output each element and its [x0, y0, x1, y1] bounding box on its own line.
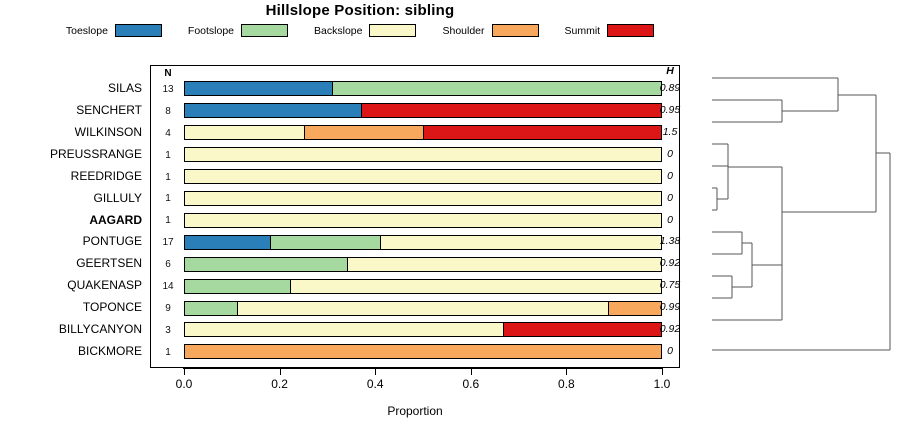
category-label-gilluly: GILLULY [94, 191, 142, 205]
bar-segment-backslope [290, 280, 661, 293]
stacked-bar [184, 125, 662, 140]
bar-segment-footslope [332, 82, 661, 95]
legend-item-footslope: Footslope [188, 24, 288, 37]
dendrogram-svg [690, 62, 900, 372]
stacked-bar [184, 81, 662, 96]
x-tick-label: 0.4 [367, 377, 384, 391]
bar-segment-backslope [185, 214, 661, 227]
stacked-bar [184, 103, 662, 118]
dendrogram [690, 62, 900, 372]
bar-segment-backslope [185, 192, 661, 205]
n-value: 1 [153, 347, 183, 358]
n-value: 4 [153, 128, 183, 139]
x-tick-label: 1.0 [654, 377, 671, 391]
bar-row: 4 [151, 122, 679, 144]
chart-title: Hillslope Position: sibling [0, 2, 720, 19]
h-value: 0.75 [648, 279, 692, 291]
h-value: 0.92 [648, 323, 692, 335]
bar-segment-toeslope [185, 82, 332, 95]
h-value: 0 [648, 214, 692, 226]
x-tick-label: 0.2 [271, 377, 288, 391]
n-value: 9 [153, 303, 183, 314]
n-value: 1 [153, 150, 183, 161]
x-tick [280, 368, 281, 375]
plot-panel: N 1384111117614931 [150, 65, 680, 368]
bar-row: 1 [151, 166, 679, 188]
bar-row: 3 [151, 319, 679, 341]
bar-row: 8 [151, 100, 679, 122]
x-axis: 0.00.20.40.60.81.0 [150, 368, 680, 402]
x-tick [184, 368, 185, 375]
legend: ToeslopeFootslopeBackslopeShoulderSummit [0, 24, 720, 37]
x-tick-label: 0.0 [176, 377, 193, 391]
category-label-pontuge: PONTUGE [83, 234, 142, 248]
legend-item-backslope: Backslope [314, 24, 416, 37]
bar-segment-backslope [185, 170, 661, 183]
legend-label: Backslope [314, 25, 362, 37]
bar-row: 14 [151, 275, 679, 297]
bar-segment-toeslope [185, 104, 361, 117]
legend-swatch [241, 24, 288, 37]
legend-swatch [607, 24, 654, 37]
category-label-reedridge: REEDRIDGE [71, 169, 142, 183]
bar-segment-shoulder [185, 345, 661, 358]
stacked-bar [184, 235, 662, 250]
h-value: 0.89 [648, 82, 692, 94]
stacked-bar [184, 279, 662, 294]
bar-row: 1 [151, 144, 679, 166]
legend-item-shoulder: Shoulder [442, 24, 538, 37]
bar-segment-shoulder [304, 126, 424, 139]
bar-segment-backslope [185, 323, 503, 336]
bar-segment-footslope [185, 280, 290, 293]
legend-item-toeslope: Toeslope [66, 24, 162, 37]
h-value: 0 [648, 148, 692, 160]
x-axis-title: Proportion [150, 404, 680, 418]
n-value: 14 [153, 281, 183, 292]
bar-segment-backslope [185, 126, 304, 139]
h-value: 0 [648, 170, 692, 182]
stacked-bar [184, 257, 662, 272]
legend-item-summit: Summit [565, 24, 655, 37]
category-label-wilkinson: WILKINSON [75, 125, 142, 139]
bar-segment-backslope [380, 236, 661, 249]
bar-segment-toeslope [185, 236, 270, 249]
category-axis-labels: SILASSENCHERTWILKINSONPREUSSRANGEREEDRID… [0, 65, 146, 368]
legend-label: Shoulder [442, 25, 484, 37]
n-value: 13 [153, 84, 183, 95]
stacked-bar [184, 169, 662, 184]
h-value: 0 [648, 192, 692, 204]
x-axis-line [183, 368, 663, 369]
bar-row: 6 [151, 253, 679, 275]
h-value: 0.95 [648, 104, 692, 116]
n-value: 1 [153, 215, 183, 226]
x-tick [662, 368, 663, 375]
x-tick [566, 368, 567, 375]
legend-swatch [115, 24, 162, 37]
n-value: 17 [153, 237, 183, 248]
bar-segment-backslope [237, 302, 608, 315]
n-value: 8 [153, 106, 183, 117]
h-value: 1.5 [648, 126, 692, 138]
bar-segment-footslope [270, 236, 380, 249]
bar-row: 1 [151, 209, 679, 231]
bar-segment-footslope [185, 258, 347, 271]
legend-label: Toeslope [66, 25, 108, 37]
category-label-preussrange: PREUSSRANGE [50, 147, 142, 161]
category-label-silas: SILAS [108, 81, 142, 95]
bar-segment-backslope [347, 258, 662, 271]
stacked-bar [184, 191, 662, 206]
x-tick-label: 0.8 [558, 377, 575, 391]
legend-label: Summit [565, 25, 601, 37]
bar-segment-backslope [185, 148, 661, 161]
category-label-toponce: TOPONCE [83, 300, 142, 314]
n-value: 1 [153, 172, 183, 183]
bar-segment-summit [423, 126, 661, 139]
category-label-billycanyon: BILLYCANYON [59, 322, 142, 336]
category-label-senchert: SENCHERT [76, 103, 142, 117]
bar-row: 17 [151, 231, 679, 253]
category-label-bickmore: BICKMORE [78, 344, 142, 358]
stacked-bar [184, 301, 662, 316]
h-value: 0 [648, 345, 692, 357]
h-value: 0.92 [648, 257, 692, 269]
h-value: 0.99 [648, 301, 692, 313]
stacked-bar [184, 344, 662, 359]
n-value: 6 [153, 259, 183, 270]
x-tick-label: 0.6 [462, 377, 479, 391]
legend-label: Footslope [188, 25, 234, 37]
legend-swatch [369, 24, 416, 37]
chart-root: Hillslope Position: sibling ToeslopeFoot… [0, 0, 900, 440]
n-value: 1 [153, 193, 183, 204]
n-value: 3 [153, 325, 183, 336]
bar-segment-footslope [185, 302, 237, 315]
h-value: 1.38 [648, 235, 692, 247]
x-tick [471, 368, 472, 375]
bar-rows: 1384111117614931 [151, 66, 679, 367]
h-column-header: H [648, 65, 692, 77]
category-label-geertsen: GEERTSEN [76, 256, 142, 270]
stacked-bar [184, 322, 662, 337]
bar-segment-summit [503, 323, 661, 336]
stacked-bar [184, 147, 662, 162]
x-tick [375, 368, 376, 375]
category-label-aagard: AAGARD [89, 213, 142, 227]
bar-row: 1 [151, 341, 679, 363]
category-label-quakenasp: QUAKENASP [67, 278, 142, 292]
bar-row: 1 [151, 187, 679, 209]
bar-segment-summit [361, 104, 661, 117]
bar-row: 9 [151, 297, 679, 319]
h-column: H 0.890.951.500001.380.920.750.990.920 [648, 65, 692, 368]
bar-row: 13 [151, 78, 679, 100]
legend-swatch [492, 24, 539, 37]
stacked-bar [184, 213, 662, 228]
